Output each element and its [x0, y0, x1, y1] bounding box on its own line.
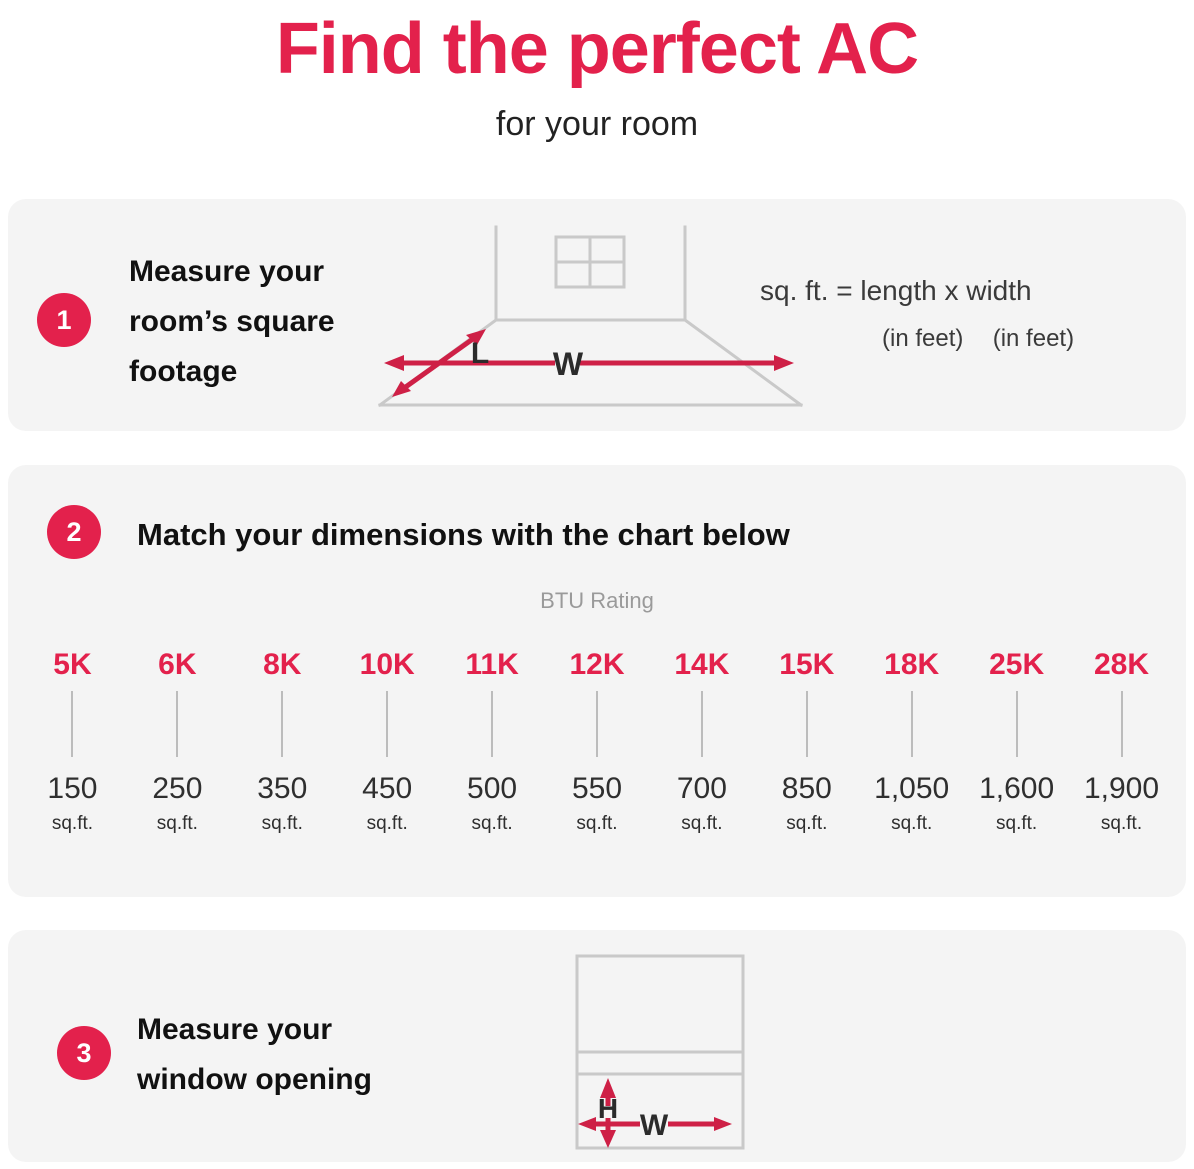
btu-scale-column: 10K450sq.ft. [335, 645, 440, 837]
formula-unit-width: (in feet) [993, 322, 1074, 356]
btu-rating-scale: 5K150sq.ft.6K250sq.ft.8K350sq.ft.10K450s… [20, 645, 1174, 845]
btu-scale-column: 8K350sq.ft. [230, 645, 335, 837]
room-size-unit: sq.ft. [964, 811, 1069, 837]
btu-value-label: 18K [859, 645, 964, 685]
height-arrow-head-bottom [600, 1130, 616, 1148]
window-width-arrow-head-right [714, 1117, 732, 1131]
btu-scale-column: 15K850sq.ft. [754, 645, 859, 837]
btu-value-label: 28K [1069, 645, 1174, 685]
btu-value-label: 14K [649, 645, 754, 685]
room-size-unit: sq.ft. [335, 811, 440, 837]
room-size-value: 150 [20, 769, 125, 809]
btu-tick-mark [701, 691, 703, 757]
btu-value-label: 11K [440, 645, 545, 685]
btu-value-label: 25K [964, 645, 1069, 685]
btu-tick-mark [71, 691, 73, 757]
step-1-title-line-3: footage [129, 347, 409, 397]
btu-tick-zone [964, 685, 1069, 763]
btu-scale-column: 12K550sq.ft. [545, 645, 650, 837]
btu-tick-zone [545, 685, 650, 763]
room-size-value: 850 [754, 769, 859, 809]
btu-tick-mark [911, 691, 913, 757]
room-size-unit: sq.ft. [859, 811, 964, 837]
formula-units: (in feet) (in feet) [760, 322, 1160, 356]
page-header: Find the perfect AC for your room [0, 0, 1194, 148]
btu-tick-mark [491, 691, 493, 757]
room-size-unit: sq.ft. [1069, 811, 1174, 837]
btu-tick-mark [596, 691, 598, 757]
btu-scale-column: 6K250sq.ft. [125, 645, 230, 837]
btu-tick-mark [281, 691, 283, 757]
btu-scale-column: 25K1,600sq.ft. [964, 645, 1069, 837]
step-1-title-line-2: room’s square [129, 297, 409, 347]
formula-unit-length: (in feet) [882, 322, 963, 356]
btu-value-label: 8K [230, 645, 335, 685]
step-3-title: Measure your window opening [137, 1005, 537, 1105]
window-width-arrow-head-left [578, 1117, 596, 1131]
room-size-unit: sq.ft. [125, 811, 230, 837]
btu-tick-mark [1121, 691, 1123, 757]
room-size-value: 700 [649, 769, 754, 809]
btu-scale-column: 14K700sq.ft. [649, 645, 754, 837]
room-size-unit: sq.ft. [649, 811, 754, 837]
btu-scale-column: 18K1,050sq.ft. [859, 645, 964, 837]
room-size-value: 1,900 [1069, 769, 1174, 809]
room-size-value: 1,050 [859, 769, 964, 809]
step-1-badge: 1 [37, 293, 91, 347]
room-size-value: 550 [545, 769, 650, 809]
width-label: W [553, 346, 584, 382]
btu-scale-columns: 5K150sq.ft.6K250sq.ft.8K350sq.ft.10K450s… [20, 645, 1174, 837]
btu-rating-caption: BTU Rating [0, 586, 1194, 616]
btu-tick-mark [806, 691, 808, 757]
page-subtitle: for your room [0, 100, 1194, 148]
width-arrow-head-left [384, 355, 404, 371]
room-size-value: 250 [125, 769, 230, 809]
btu-scale-column: 28K1,900sq.ft. [1069, 645, 1174, 837]
btu-tick-zone [230, 685, 335, 763]
room-size-value: 500 [440, 769, 545, 809]
room-size-value: 450 [335, 769, 440, 809]
btu-scale-column: 11K500sq.ft. [440, 645, 545, 837]
step-3-title-line-2: window opening [137, 1055, 537, 1105]
btu-value-label: 15K [754, 645, 859, 685]
room-size-unit: sq.ft. [545, 811, 650, 837]
room-size-unit: sq.ft. [754, 811, 859, 837]
step-1-title-line-1: Measure your [129, 247, 409, 297]
room-size-value: 1,600 [964, 769, 1069, 809]
btu-tick-zone [440, 685, 545, 763]
btu-tick-zone [20, 685, 125, 763]
room-size-unit: sq.ft. [440, 811, 545, 837]
room-window-icon [556, 237, 624, 287]
btu-value-label: 12K [545, 645, 650, 685]
btu-value-label: 10K [335, 645, 440, 685]
step-3-badge: 3 [57, 1026, 111, 1080]
btu-value-label: 5K [20, 645, 125, 685]
window-width-label: W [640, 1109, 669, 1142]
btu-scale-column: 5K150sq.ft. [20, 645, 125, 837]
infographic-page: Find the perfect AC for your room 1 Meas… [0, 0, 1194, 1169]
btu-tick-mark [1016, 691, 1018, 757]
btu-tick-mark [176, 691, 178, 757]
window-height-label: H [598, 1093, 618, 1124]
room-perspective-diagram: W L [370, 215, 810, 415]
btu-tick-zone [1069, 685, 1174, 763]
btu-tick-zone [125, 685, 230, 763]
btu-tick-zone [649, 685, 754, 763]
square-footage-formula: sq. ft. = length x width (in feet) (in f… [760, 272, 1160, 356]
btu-tick-mark [386, 691, 388, 757]
btu-tick-zone [754, 685, 859, 763]
length-label: L [471, 337, 489, 370]
btu-tick-zone [335, 685, 440, 763]
step-3-title-line-1: Measure your [137, 1005, 537, 1055]
formula-equation: sq. ft. = length x width [760, 272, 1160, 310]
step-2-badge: 2 [47, 505, 101, 559]
window-opening-diagram: H W [572, 952, 748, 1152]
room-size-unit: sq.ft. [20, 811, 125, 837]
btu-value-label: 6K [125, 645, 230, 685]
page-title: Find the perfect AC [0, 6, 1194, 92]
step-1-title: Measure your room’s square footage [129, 247, 409, 397]
btu-tick-zone [859, 685, 964, 763]
room-size-unit: sq.ft. [230, 811, 335, 837]
width-arrow-head-right [774, 355, 794, 371]
step-2-title: Match your dimensions with the chart bel… [137, 515, 790, 555]
room-size-value: 350 [230, 769, 335, 809]
